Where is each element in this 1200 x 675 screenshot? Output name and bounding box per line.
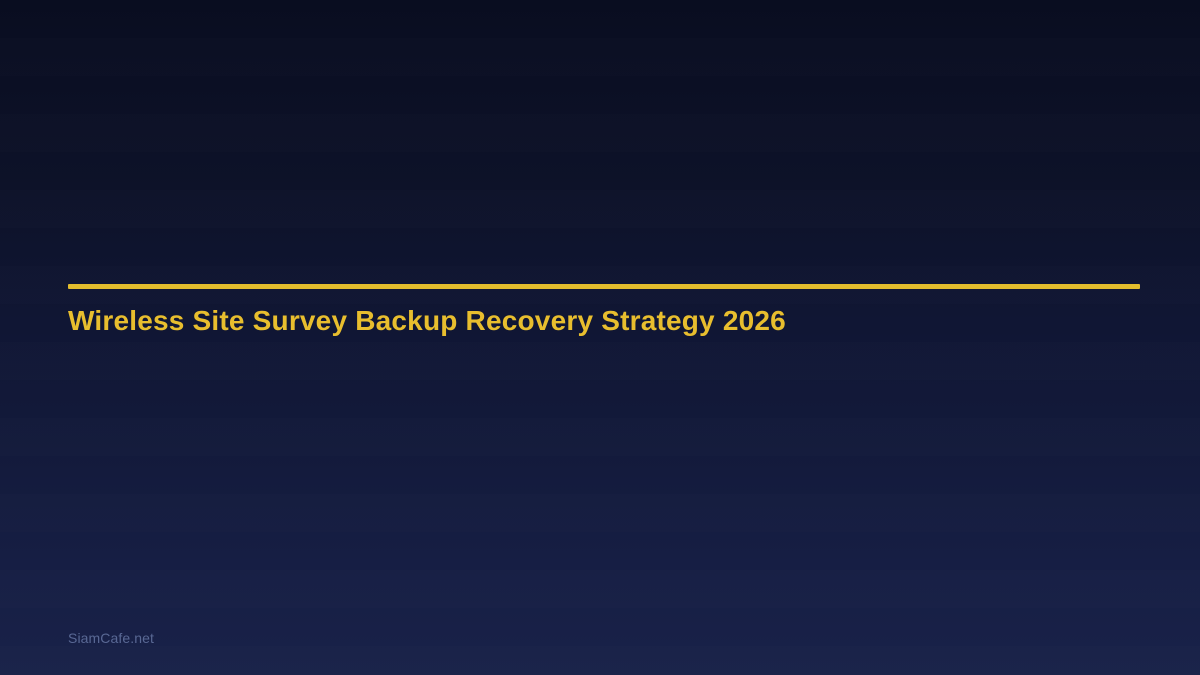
page-title: Wireless Site Survey Backup Recovery Str… <box>68 289 1140 338</box>
title-block: Wireless Site Survey Backup Recovery Str… <box>68 284 1140 338</box>
footer-watermark: SiamCafe.net <box>68 630 154 646</box>
presentation-slide: Wireless Site Survey Backup Recovery Str… <box>0 0 1200 675</box>
